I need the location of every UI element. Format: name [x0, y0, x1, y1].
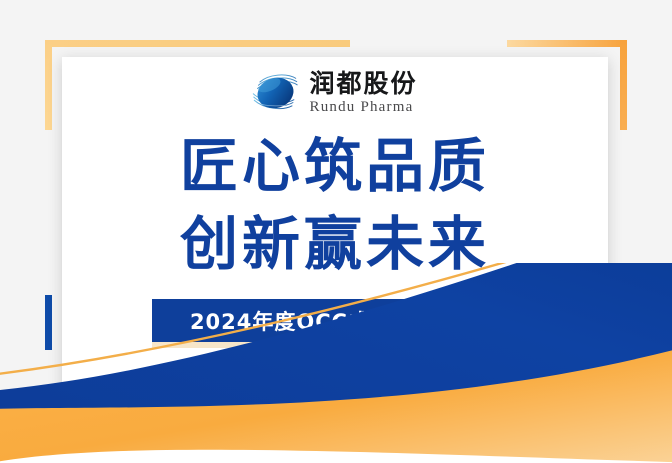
bracket-top-left-vertical-bar	[45, 40, 52, 130]
poster-canvas: 润都股份 Rundu Pharma 匠心筑品质 创新赢未来 2024年度QCC成…	[0, 0, 672, 463]
bracket-top-right-vertical-bar	[620, 40, 627, 130]
logo-english-name: Rundu Pharma	[309, 100, 417, 115]
headline-line-1: 匠心筑品质	[62, 137, 608, 195]
bottom-wave-decoration	[0, 263, 672, 463]
company-logo-lockup: 润都股份 Rundu Pharma	[62, 71, 608, 115]
bracket-top-right-horizontal-bar	[507, 40, 627, 47]
logo-chinese-name: 润都股份	[309, 71, 417, 96]
logo-wordmark: 润都股份 Rundu Pharma	[309, 71, 417, 115]
rundu-globe-logo-icon	[252, 71, 299, 115]
bracket-top-left-horizontal-bar	[45, 40, 350, 47]
